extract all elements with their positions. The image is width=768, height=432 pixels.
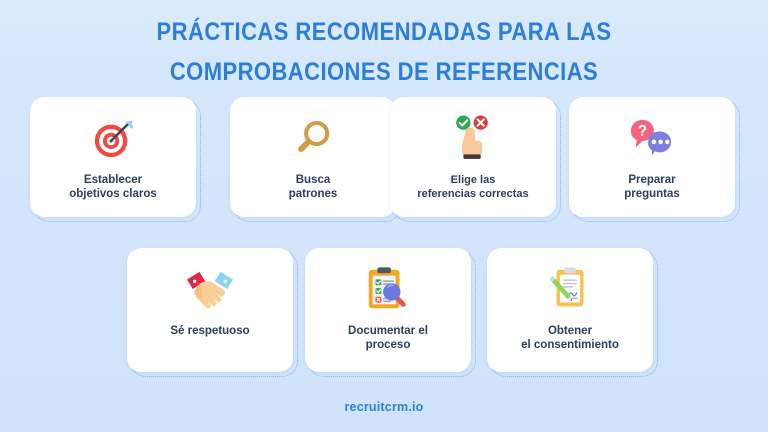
card-elige-las-referencias-correctas[interactable]: Elige las referencias correctas xyxy=(390,97,556,217)
svg-text:?: ? xyxy=(638,123,647,140)
card-label: Sé respetuoso xyxy=(164,324,255,338)
card-label: Preparar preguntas xyxy=(618,173,686,201)
card-busca-patrones[interactable]: Busca patrones xyxy=(230,97,396,217)
title-line-2: COMPROBACIONES DE REFERENCIAS xyxy=(46,52,722,92)
card-label: Documentar el proceso xyxy=(342,324,434,352)
card-label: Establecer objetivos claros xyxy=(63,173,163,201)
title-line-1: PRÁCTICAS RECOMENDADAS PARA LAS xyxy=(46,12,722,52)
card-establecer-objetivos-claros[interactable]: Establecer objetivos claros xyxy=(30,97,196,217)
signed-document-pencil-icon xyxy=(542,262,598,318)
poster-title: PRÁCTICAS RECOMENDADAS PARA LAS COMPROBA… xyxy=(0,12,768,92)
card-obtener-el-consentimiento[interactable]: Obtener el consentimiento xyxy=(487,248,653,372)
card-label: Busca patrones xyxy=(283,173,344,201)
pointing-hand-check-cross-icon xyxy=(445,111,501,167)
card-documentar-el-proceso[interactable]: Documentar el proceso xyxy=(305,248,471,372)
speech-bubbles-icon: ? xyxy=(624,111,680,167)
infographic-poster: PRÁCTICAS RECOMENDADAS PARA LAS COMPROBA… xyxy=(0,0,768,432)
footer-brand[interactable]: recruitcrm.io xyxy=(0,400,768,414)
card-preparar-preguntas[interactable]: ? Preparar preguntas xyxy=(569,97,735,217)
target-icon xyxy=(85,111,141,167)
card-label: Obtener el consentimiento xyxy=(515,324,625,352)
card-se-respetuoso[interactable]: Sé respetuoso xyxy=(127,248,293,372)
handshake-icon xyxy=(182,262,238,318)
magnifier-icon xyxy=(285,111,341,167)
card-label: Elige las referencias correctas xyxy=(411,173,534,201)
clipboard-magnifier-icon xyxy=(360,262,416,318)
